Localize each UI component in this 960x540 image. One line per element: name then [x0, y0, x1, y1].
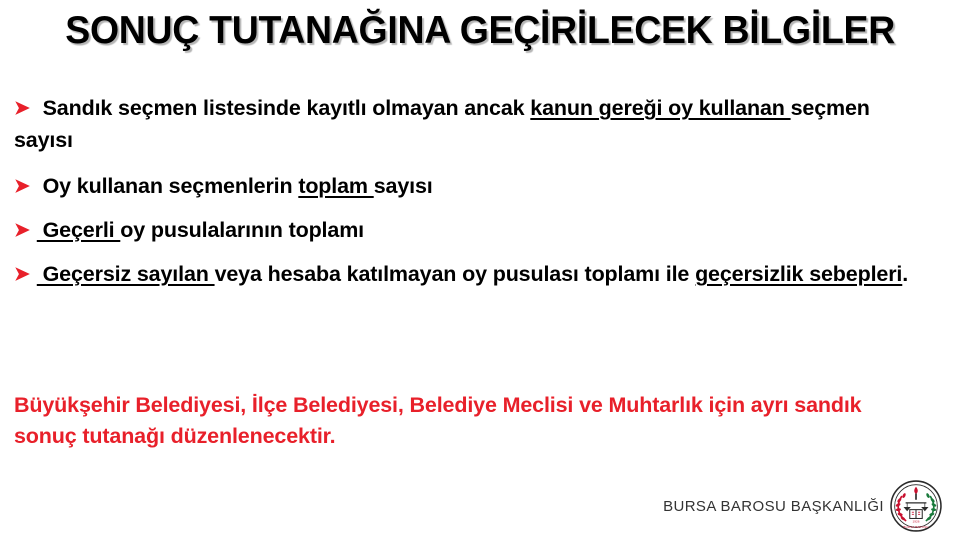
- bullet-segment: Oy kullanan seçmenlerin: [37, 174, 299, 198]
- page-title: SONUÇ TUTANAĞINA GEÇİRİLECEK BİLGİLER: [65, 8, 895, 54]
- arrow-bullet-icon: ➤: [14, 177, 30, 196]
- bullet-segment: sayısı: [374, 174, 433, 198]
- title-block: SONUÇ TUTANAĞINA GEÇİRİLECEK BİLGİLER: [0, 8, 960, 54]
- arrow-bullet-icon: ➤: [14, 265, 30, 284]
- bullet-paragraph: ➤ Sandık seçmen listesinde kayıtlı olmay…: [14, 92, 930, 156]
- emblem-caption: BURSA BAROSU: [903, 525, 928, 529]
- emphasis-text: Büyükşehir Belediyesi, İlçe Belediyesi, …: [14, 390, 926, 452]
- slide-canvas: SONUÇ TUTANAĞINA GEÇİRİLECEK BİLGİLER ➤ …: [0, 0, 960, 540]
- bullet-paragraph: ➤ Oy kullanan seçmenlerin toplam sayısı: [14, 170, 930, 202]
- bursa-bar-association-emblem-icon: 1926 BURSA BAROSU: [890, 480, 942, 532]
- list-item: ➤ Sandık seçmen listesinde kayıtlı olmay…: [0, 92, 960, 156]
- bullet-segment-underlined: kanun gereği oy kullanan: [530, 96, 790, 120]
- list-item: ➤ Geçersiz sayılan veya hesaba katılmaya…: [0, 258, 960, 290]
- bullet-segment: oy pusulalarının toplamı: [120, 218, 364, 242]
- bullet-list: ➤ Sandık seçmen listesinde kayıtlı olmay…: [0, 92, 960, 304]
- footer-organization-label: BURSA BAROSU BAŞKANLIĞI: [663, 498, 884, 515]
- bullet-segment: .: [902, 262, 908, 286]
- list-item: ➤ Oy kullanan seçmenlerin toplam sayısı: [0, 170, 960, 202]
- bullet-segment-underlined: Geçersiz sayılan: [37, 262, 215, 286]
- list-item: ➤ Geçerli oy pusulalarının toplamı: [0, 214, 960, 246]
- bullet-segment: Sandık seçmen listesinde kayıtlı olmayan…: [37, 96, 531, 120]
- emphasis-note: Büyükşehir Belediyesi, İlçe Belediyesi, …: [14, 390, 926, 452]
- bullet-segment-underlined: toplam: [298, 174, 373, 198]
- bullet-segment-underlined: Geçerli: [37, 218, 121, 242]
- bullet-segment-underlined: geçersizlik sebepleri: [695, 262, 902, 286]
- bullet-paragraph: ➤ Geçersiz sayılan veya hesaba katılmaya…: [14, 258, 930, 290]
- emblem-year: 1926: [913, 520, 920, 524]
- footer: BURSA BAROSU BAŞKANLIĞI: [663, 480, 942, 532]
- bullet-segment: veya hesaba katılmayan oy pusulası topla…: [215, 262, 696, 286]
- bullet-paragraph: ➤ Geçerli oy pusulalarının toplamı: [14, 214, 930, 246]
- arrow-bullet-icon: ➤: [14, 99, 30, 118]
- arrow-bullet-icon: ➤: [14, 221, 30, 240]
